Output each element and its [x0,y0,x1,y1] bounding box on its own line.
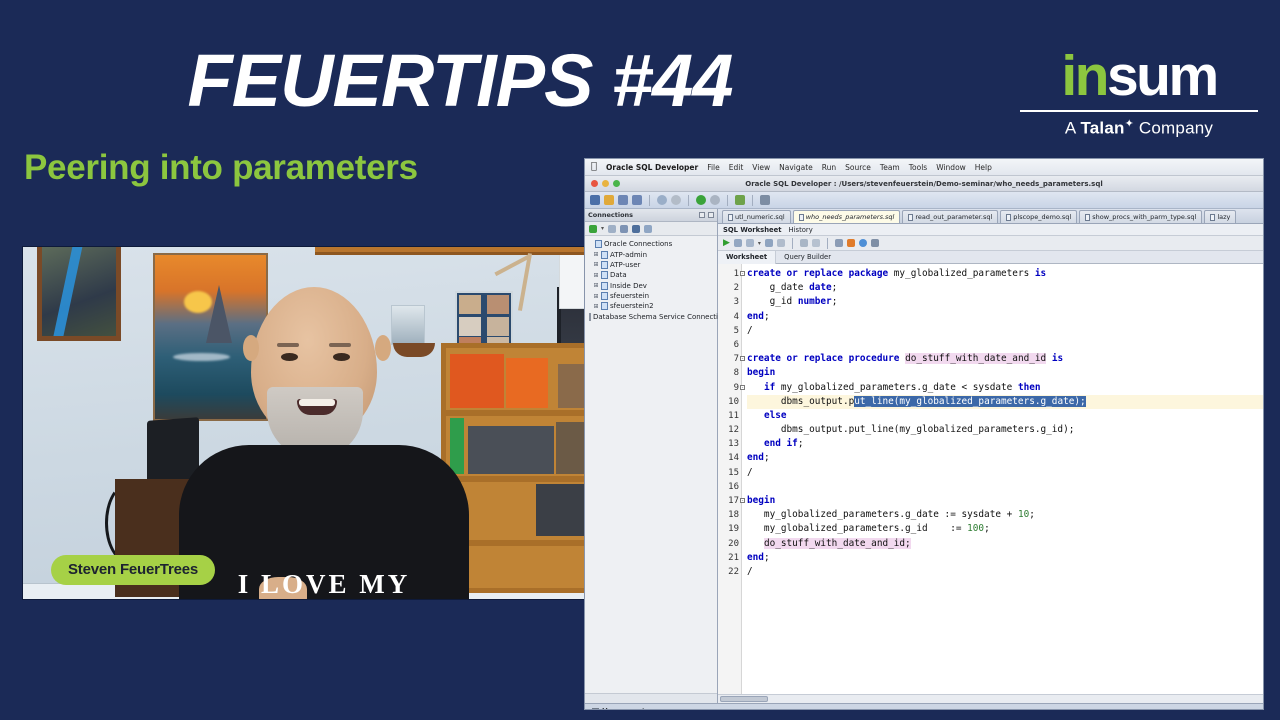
line-number: 21 [718,551,741,565]
menu-app-name[interactable]: Oracle SQL Developer [606,163,698,172]
code-line[interactable]: end; [747,451,1263,465]
worksheet-toolbar[interactable]: ▶ ▾ [718,236,1263,251]
code-token: end if [764,438,798,449]
macos-menu-bar[interactable]:  Oracle SQL Developer File Edit View Na… [585,159,1263,176]
tagline-star-icon: ✦ [1125,118,1134,130]
tree-item-label: sfeuerstein2 [610,302,654,310]
code-token: ; [832,296,838,307]
code-token [747,438,764,449]
code-token: create or replace [747,353,849,364]
messages-log-icon [592,708,599,711]
code-token: else [764,410,787,421]
file-tab-label: utl_numeric.sql [735,213,785,221]
code-token: ; [764,552,770,563]
code-token: if [764,382,781,393]
line-number: 11 [718,409,741,423]
code-token: g_date [747,282,809,293]
bookshelf-divider [446,410,588,416]
clear-icon[interactable] [835,239,843,247]
person-eye [333,353,350,361]
person-teeth [299,399,335,406]
file-tab-plscope-demo[interactable]: plscope_demo.sql [1000,210,1077,223]
undo-icon[interactable] [657,195,667,205]
photo-tile [487,317,509,336]
menu-item-source[interactable]: Source [845,163,871,172]
line-number: 9- [718,381,741,395]
twisty-icon[interactable]: ⊞ [593,303,599,310]
code-token [747,410,764,421]
line-number-gutter: 1-234567-89-1011121314151617-1819202122 [718,264,742,694]
code-line[interactable]: do_stuff_with_date_and_id; [747,537,1263,551]
photo-tile [459,317,481,336]
line-number: 8 [718,366,741,380]
code-line[interactable]: my_globalized_parameters.g_id := 100; [747,522,1263,536]
code-token: end [747,452,764,463]
snippets-icon[interactable] [871,239,879,247]
connection-icon [601,261,608,269]
code-editor[interactable]: 1-234567-89-1011121314151617-1819202122 … [718,264,1263,694]
open-file-icon[interactable] [604,195,614,205]
code-token: package [849,268,894,279]
tree-item-data[interactable]: ⊞ Data [587,270,715,280]
code-line[interactable]: my_globalized_parameters.g_date := sysda… [747,508,1263,522]
sql-file-icon [908,214,913,221]
line-number: 18 [718,508,741,522]
window-title-bar[interactable]: Oracle SQL Developer : /Users/stevenfeue… [585,176,1263,192]
line-number: 19 [718,522,741,536]
code-fold-icon[interactable]: - [740,498,745,503]
person-eye [281,353,298,361]
code-token: is [1046,353,1063,364]
code-token: ut_line(my_globalized_parameters.g_date)… [854,396,1085,407]
messages-log-bar[interactable]: Messages - Log [585,704,1263,710]
file-tab-label: show_procs_with_parm_type.sql [1092,213,1196,221]
orange-books [506,358,548,408]
messages-log-label: Messages - Log [602,707,654,711]
sql-worksheet-label[interactable]: SQL Worksheet [723,226,782,234]
sql-history-icon[interactable] [777,239,785,247]
history-label[interactable]: History [789,226,813,234]
person-ear [243,335,259,361]
line-number: 17- [718,494,741,508]
worksheet-header[interactable]: SQL Worksheet History [718,224,1263,236]
sql-file-icon [728,214,733,221]
code-token: ; [832,282,838,293]
file-tab-label: who_needs_parameters.sql [806,213,895,221]
page-subtitle: Peering into parameters [24,148,418,188]
logo-tagline: A Talan✦ Company [1020,119,1258,137]
line-number: 13 [718,437,741,451]
code-line[interactable]: end if; [747,437,1263,451]
code-token: my_globalized_parameters [894,268,1035,279]
redo-icon[interactable] [671,195,681,205]
twisty-icon[interactable]: ⊞ [593,251,599,258]
code-token [747,538,764,549]
file-tab-utl-numeric[interactable]: utl_numeric.sql [722,210,791,223]
line-number: 10 [718,395,741,409]
run-icon[interactable] [696,195,706,205]
file-tab-show-procs-with-parm-type[interactable]: show_procs_with_parm_type.sql [1079,210,1202,223]
tree-item-label: Database Schema Service Connecti [593,313,718,321]
logo-word-green: in [1061,44,1107,108]
code-token: number [798,296,832,307]
file-tab-bar[interactable]: utl_numeric.sql who_needs_parameters.sql… [718,209,1263,224]
menu-item-help[interactable]: Help [975,163,992,172]
code-token: ; [1029,509,1035,520]
chevron-down-icon[interactable]: ▾ [601,225,604,232]
code-line[interactable] [747,338,1263,352]
code-token: create or replace [747,268,849,279]
code-token: / [747,325,753,336]
add-connection-icon[interactable] [589,225,597,233]
line-number: 2 [718,281,741,295]
tree-item-sfeuerstein2[interactable]: ⊞ sfeuerstein2 [587,301,715,311]
code-line[interactable]: end; [747,310,1263,324]
page-title: FEUERTIPS #44 [0,44,920,118]
panel-controls[interactable] [699,212,714,218]
book-row [468,426,554,474]
twisty-icon[interactable]: ⊞ [593,272,599,279]
format-pencil-icon[interactable] [847,239,855,247]
file-tab-who-needs-parameters[interactable]: who_needs_parameters.sql [793,210,901,223]
tree-item-label: ATP-user [610,261,640,269]
speaker [147,417,199,483]
code-token: 10 [1018,509,1029,520]
code-token: date [809,282,832,293]
tree-item-inside-dev[interactable]: ⊞ Inside Dev [587,281,715,291]
debug-icon[interactable] [735,195,745,205]
tab-label: Query Builder [784,253,831,261]
connections-panel[interactable]: Connections ▾ [585,209,718,703]
code-token: do_stuff_with_date_and_id; [764,538,911,549]
menu-item-view[interactable]: View [752,163,770,172]
connections-toolbar[interactable]: ▾ [585,222,717,236]
tab-label: Worksheet [726,253,767,261]
toolbar-divider [688,195,689,206]
chevron-down-icon[interactable]: ▾ [758,240,761,247]
menu-item-team[interactable]: Team [880,163,900,172]
code-token: my_globalized_parameters.g_date < sysdat… [781,382,1018,393]
menu-item-window[interactable]: Window [936,163,966,172]
window-body: Connections ▾ [585,209,1263,703]
code-line[interactable]: g_date date; [747,281,1263,295]
code-line[interactable]: / [747,324,1263,338]
photo-tile [459,295,481,314]
editor-pane: utl_numeric.sql who_needs_parameters.sql… [718,209,1263,703]
file-tab-label: read_out_parameter.sql [915,213,992,221]
person-eyebrow [277,343,299,347]
person-eyebrow [329,343,351,347]
file-tab-label: lazy [1217,213,1230,221]
code-fold-icon[interactable]: - [740,356,745,361]
code-content[interactable]: create or replace package my_globalized_… [742,264,1263,694]
tree-item-label: Oracle Connections [604,240,672,248]
code-token: begin [747,367,775,378]
file-tab-lazy[interactable]: lazy [1204,210,1236,223]
painting-peak [206,285,232,343]
code-line[interactable]: begin [747,494,1263,508]
apple-icon[interactable]:  [591,162,597,172]
shelf-vase [391,305,425,345]
sql-file-icon [1085,214,1090,221]
code-token: dbms_output.p [747,396,854,407]
menu-item-run[interactable]: Run [822,163,836,172]
painting-wave [173,353,231,361]
line-number: 1- [718,267,741,281]
window-title: Oracle SQL Developer : /Users/stevenfeue… [585,180,1263,188]
code-token: g_id [747,296,798,307]
code-token: ; [984,523,990,534]
logo-divider [1020,110,1258,112]
connections-panel-header: Connections [585,209,717,222]
line-number: 6 [718,338,741,352]
code-token: ; [798,438,804,449]
menu-item-navigate[interactable]: Navigate [779,163,813,172]
code-token: end [747,311,764,322]
code-line[interactable]: if my_globalized_parameters.g_date < sys… [747,381,1263,395]
bookshelf-divider [446,476,588,482]
connections-title: Connections [588,211,633,219]
photo-tile [487,295,509,314]
line-number: 12 [718,423,741,437]
tree-item-oracle-connections[interactable]: Oracle Connections [587,239,715,249]
wall-shelf [315,246,588,255]
rollback-icon[interactable] [812,239,820,247]
shirt-text: I LOVE MY [219,569,429,600]
toolbar-divider [649,195,650,206]
connection-icon [601,271,608,279]
tree-item-atp-user[interactable]: ⊞ ATP-user [587,260,715,270]
file-tab-read-out-parameter[interactable]: read_out_parameter.sql [902,210,998,223]
code-token: my_globalized_parameters.g_id := [747,523,967,534]
code-line[interactable]: else [747,409,1263,423]
logo-wordmark: insum [1020,48,1258,108]
code-token: ; [764,311,770,322]
connection-icon [601,251,608,259]
save-icon[interactable] [618,195,628,205]
tree-item-label: sfeuerstein [610,292,649,300]
connections-scrollbar[interactable] [585,693,717,703]
connection-icon [601,302,608,310]
line-number: 20 [718,537,741,551]
code-line[interactable]: dbms_output.put_line(my_globalized_param… [747,395,1263,409]
speaker-name-badge: Steven FeuerTrees [51,555,215,585]
connection-icon [601,282,608,290]
sql-file-icon [1006,214,1011,221]
code-fold-icon[interactable]: - [740,385,745,390]
reload-icon[interactable] [644,225,652,233]
tree-item-sfeuerstein[interactable]: ⊞ sfeuerstein [587,291,715,301]
menu-item-edit[interactable]: Edit [729,163,744,172]
toolbar-divider [827,238,828,249]
step-icon[interactable] [710,195,720,205]
line-number: 16 [718,480,741,494]
print-icon[interactable] [760,195,770,205]
code-token: / [747,467,753,478]
main-toolbar[interactable] [585,192,1263,209]
line-number: 3 [718,295,741,309]
line-number: 14 [718,451,741,465]
toolbar-divider [727,195,728,206]
person-ear [375,335,391,361]
code-token: do_stuff_with_date_and_id [905,353,1046,364]
code-line[interactable]: dbms_output.put_line(my_globalized_param… [747,423,1263,437]
commit-icon[interactable] [800,239,808,247]
line-number: 15 [718,466,741,480]
slide-root: FEUERTIPS #44 Peering into parameters in… [0,0,1280,720]
worksheet-tab-bar[interactable]: Worksheet Query Builder [718,251,1263,264]
line-number: 7- [718,352,741,366]
tree-item-label: Inside Dev [610,282,647,290]
code-token: end [747,552,764,563]
tab-worksheet[interactable]: Worksheet [718,251,776,264]
minimize-panel-icon[interactable] [699,212,705,218]
filter-icon[interactable] [620,225,628,233]
connections-tree[interactable]: Oracle Connections ⊞ ATP-admin ⊞ ATP-use… [585,236,717,693]
code-token: / [747,566,753,577]
tree-item-label: Data [610,271,627,279]
twisty-icon[interactable]: ⊞ [593,261,599,268]
code-token: my_globalized_parameters.g_date := sysda… [747,509,1018,520]
code-token: ; [764,452,770,463]
code-line[interactable] [747,480,1263,494]
book-row [536,484,588,536]
twisty-icon[interactable]: ⊞ [593,293,599,300]
code-line[interactable]: end; [747,551,1263,565]
code-token: procedure [849,353,905,364]
line-number: 22 [718,565,741,579]
oracle-sql-developer-window[interactable]:  Oracle SQL Developer File Edit View Na… [584,158,1264,710]
new-file-icon[interactable] [590,195,600,205]
run-statement-icon[interactable]: ▶ [723,239,730,248]
scrollbar-thumb[interactable] [720,696,768,702]
insum-logo: insum A Talan✦ Company [1020,48,1258,137]
code-line[interactable]: create or replace procedure do_stuff_wit… [747,352,1263,366]
code-line[interactable]: / [747,466,1263,480]
code-line[interactable]: / [747,565,1263,579]
sql-file-icon [1210,214,1215,221]
twisty-icon[interactable]: ⊞ [593,282,599,289]
connection-icon [601,292,608,300]
green-book [450,418,464,474]
painting-left [37,246,121,341]
file-tab-label: plscope_demo.sql [1013,213,1071,221]
tagline-prefix: A [1065,119,1081,138]
webcam-video-panel[interactable]: I LOVE MY Steven FeuerTrees [22,246,588,600]
tab-query-builder[interactable]: Query Builder [776,251,839,264]
connections-folder-icon [595,240,602,248]
sql-file-icon [799,214,804,221]
code-line[interactable]: g_id number; [747,295,1263,309]
query-builder-icon[interactable] [859,239,867,247]
code-line[interactable]: create or replace package my_globalized_… [747,267,1263,281]
tagline-brand: Talan [1080,119,1124,138]
code-token: is [1035,268,1046,279]
menu-item-tools[interactable]: Tools [909,163,927,172]
tagline-suffix: Company [1134,119,1213,138]
toolbar-divider [752,195,753,206]
line-number: 4 [718,310,741,324]
line-number: 5 [718,324,741,338]
code-fold-icon[interactable]: - [740,271,745,276]
code-token: then [1018,382,1041,393]
plug-icon [589,313,591,321]
refresh-icon[interactable] [608,225,616,233]
maximize-panel-icon[interactable] [708,212,714,218]
orange-books [450,354,504,408]
editor-horizontal-scrollbar[interactable] [718,694,1263,703]
code-line[interactable]: begin [747,366,1263,380]
explain-plan-icon[interactable] [765,239,773,247]
tree-item-label: ATP-admin [610,251,647,259]
autotrace-icon[interactable] [746,239,754,247]
save-all-icon[interactable] [632,195,642,205]
grid-icon[interactable] [632,225,640,233]
tree-item-database-schema-service[interactable]: Database Schema Service Connecti [587,312,715,322]
code-token [747,382,764,393]
code-token: dbms_output.put_line(my_globalized_param… [747,424,1074,435]
menu-item-file[interactable]: File [707,163,720,172]
tree-item-atp-admin[interactable]: ⊞ ATP-admin [587,249,715,259]
run-script-icon[interactable] [734,239,742,247]
status-area: Messages - Log Saved: /Users/stevenfeuer… [585,703,1263,710]
logo-word-white: sum [1107,44,1217,108]
toolbar-divider [792,238,793,249]
code-token: 100 [967,523,984,534]
code-token: begin [747,495,775,506]
